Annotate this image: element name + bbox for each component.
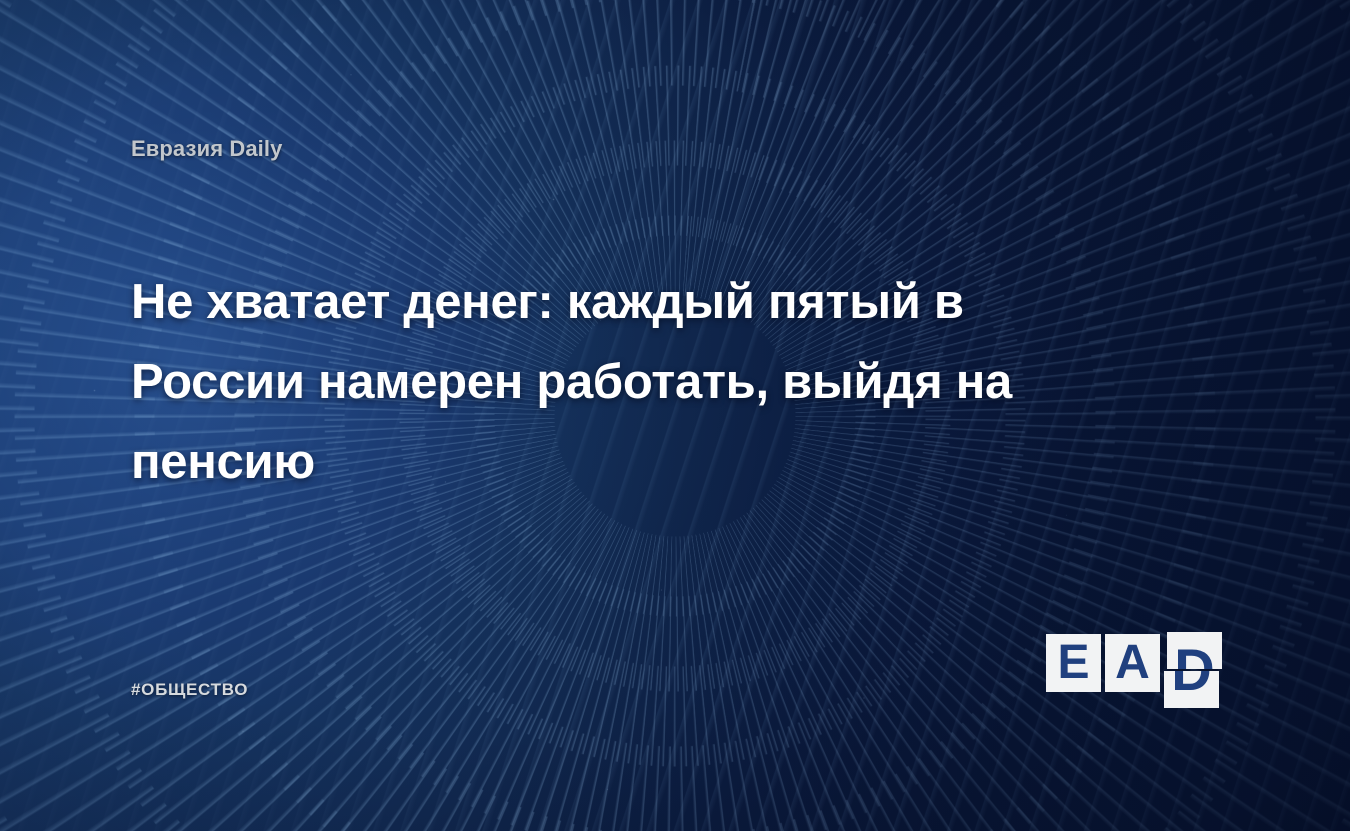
logo-letter-d-mirror: D [1164, 671, 1219, 708]
ead-logo: E A D D [1046, 632, 1222, 708]
logo-letter-d-bottom-half: D [1164, 671, 1219, 708]
logo-tile-a: A [1105, 634, 1160, 692]
cover-content: Евразия Daily Не хватает денег: каждый п… [0, 0, 1350, 831]
logo-letter-d-top-half: D [1167, 632, 1222, 669]
page-title: Не хватает денег: каждый пятый в России … [131, 262, 1111, 502]
news-cover-card: Евразия Daily Не хватает денег: каждый п… [0, 0, 1350, 831]
logo-letter-e: E [1046, 634, 1101, 692]
logo-tile-e: E [1046, 634, 1101, 692]
logo-tile-d: D D [1164, 632, 1222, 708]
category-tag: #ОБЩЕСТВО [131, 680, 248, 700]
logo-letter-a: A [1105, 634, 1160, 692]
brand-title: Евразия Daily [131, 136, 282, 162]
logo-letter-d: D [1167, 632, 1222, 669]
